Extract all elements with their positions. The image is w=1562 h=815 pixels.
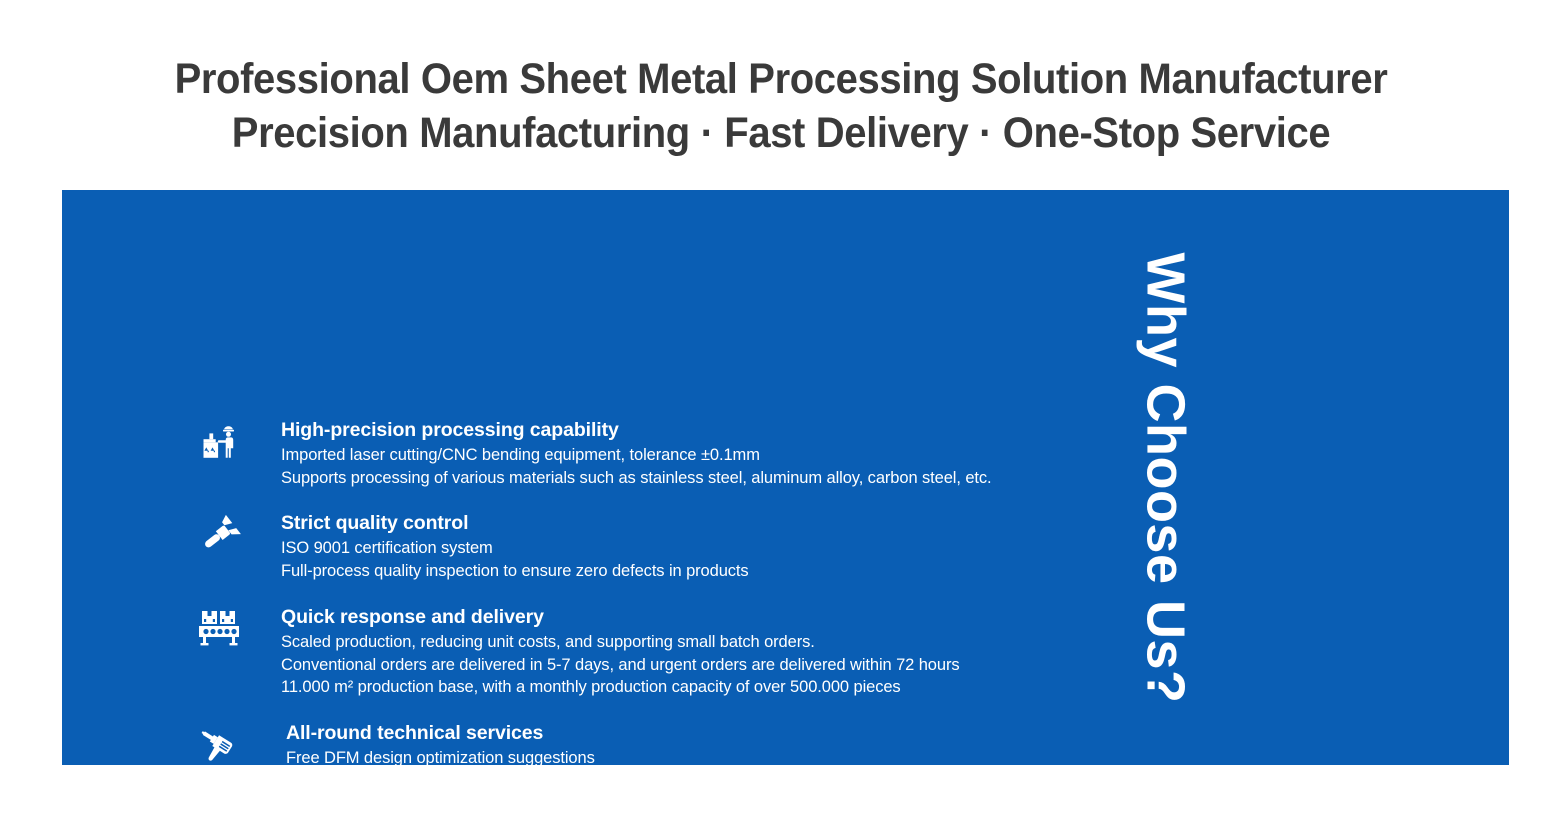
feature-text: High-precision processing capability Imp…	[248, 418, 992, 489]
list-item: High-precision processing capability Imp…	[192, 418, 992, 489]
feature-detail-line: ISO 9001 certification system	[281, 537, 749, 560]
page-title: Professional Oem Sheet Metal Processing …	[55, 52, 1508, 160]
feature-list: High-precision processing capability Imp…	[62, 190, 1509, 765]
feature-detail-line: Full-process quality inspection to ensur…	[281, 560, 749, 583]
feature-detail-line: Scaled production, reducing unit costs, …	[281, 631, 960, 654]
conveyor-belt-boxes-icon	[192, 605, 248, 647]
power-drill-icon	[192, 721, 248, 767]
feature-title: All-round technical services	[286, 721, 684, 746]
headline-line-2: Precision Manufacturing · Fast Delivery …	[55, 106, 1508, 160]
feature-detail-line: Conventional orders are delivered in 5-7…	[281, 654, 960, 677]
feature-text: Quick response and delivery Scaled produ…	[248, 605, 960, 699]
list-item: Strict quality control ISO 9001 certific…	[192, 511, 749, 582]
feature-detail-line: Imported laser cutting/CNC bending equip…	[281, 444, 992, 467]
feature-detail-line: Supports processing of various materials…	[281, 467, 992, 490]
list-item: Quick response and delivery Scaled produ…	[192, 605, 960, 699]
headline-line-1: Professional Oem Sheet Metal Processing …	[175, 55, 1388, 103]
why-choose-us-panel: High-precision processing capability Imp…	[62, 190, 1509, 765]
feature-text: All-round technical services Free DFM de…	[248, 721, 684, 792]
feature-detail-line: Full technical support from samples to m…	[286, 770, 684, 793]
factory-worker-machine-icon	[192, 418, 248, 464]
blueprint-drawing-icon	[192, 810, 248, 815]
feature-text: Strict quality control ISO 9001 certific…	[248, 511, 749, 582]
feature-text: Support OEM/ODM, processing according to…	[248, 810, 1053, 815]
list-item: Support OEM/ODM, processing according to…	[192, 810, 1053, 815]
feature-detail-line: 11.000 m² production base, with a monthl…	[281, 676, 960, 699]
poster-canvas: Professional Oem Sheet Metal Processing …	[0, 0, 1562, 815]
vertical-section-title: Why Choose Us?	[1138, 252, 1192, 703]
list-item: All-round technical services Free DFM de…	[192, 721, 684, 792]
feature-title: Strict quality control	[281, 511, 749, 536]
feature-title: Quick response and delivery	[281, 605, 960, 630]
feature-detail-line: Free DFM design optimization suggestions	[286, 747, 684, 770]
feature-title: High-precision processing capability	[281, 418, 992, 443]
spray-gun-tool-icon	[192, 511, 248, 557]
